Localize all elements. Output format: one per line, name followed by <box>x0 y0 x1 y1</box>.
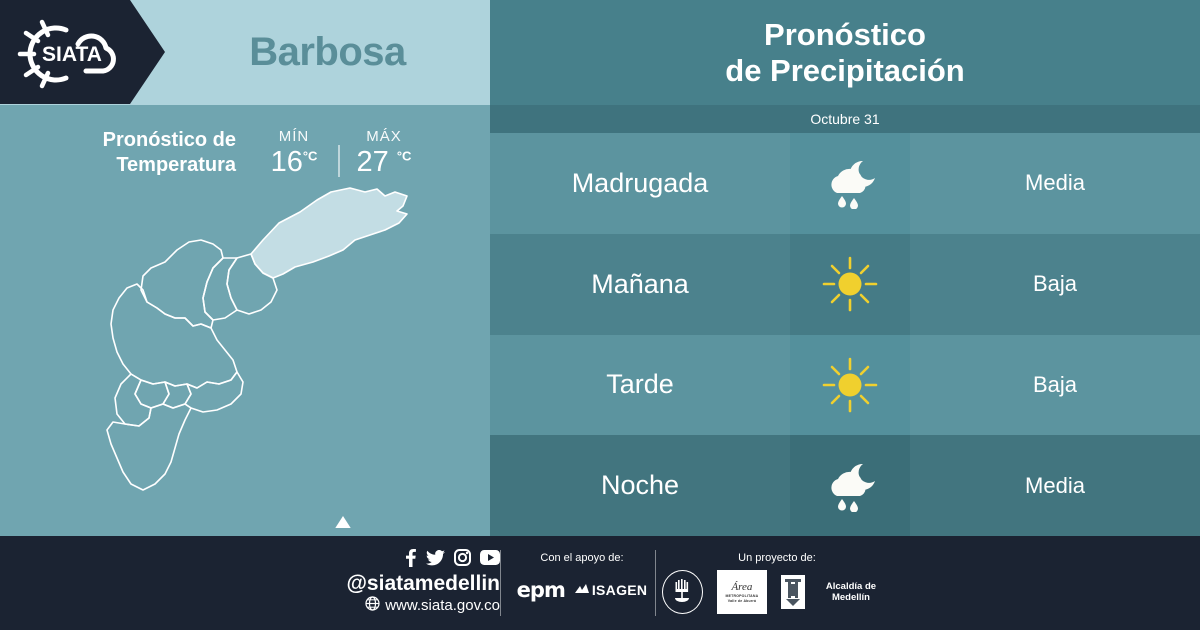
alcaldia-label: Alcaldía de Medellín <box>810 581 892 603</box>
footer-divider-1 <box>500 550 501 616</box>
temperature-title-line2: Temperatura <box>60 153 236 178</box>
forecast-row: Madrugada Media <box>490 133 1200 234</box>
support-logos: epm ISAGEN <box>512 578 652 602</box>
aburra-valley-map: N <box>55 178 445 528</box>
temperature-max-unit: °C <box>397 148 412 163</box>
temperature-min-label: MÍN <box>250 128 338 145</box>
social-block: @siatamedellin www.siata.gov.co <box>300 550 500 615</box>
alcaldia-de-medellin-logo: Alcaldía de Medellín <box>781 575 892 609</box>
medellin-crest-icon <box>781 575 805 609</box>
support-caption: Con el apoyo de: <box>512 552 652 564</box>
siata-logo: SIATA <box>14 14 134 94</box>
globe-icon <box>365 596 380 615</box>
temperature-title: Pronóstico de Temperatura <box>60 128 250 178</box>
map-region-barbosa <box>251 188 407 278</box>
amva-sub1: METROPOLITANA <box>726 594 759 598</box>
temperature-summary: Pronóstico de Temperatura MÍN 16°C MÁX 2… <box>60 122 460 184</box>
social-icons <box>300 550 500 570</box>
area-metropolitana-logo: Área METROPOLITANA Valle de Aburrá <box>717 570 767 614</box>
probability-label: Baja <box>910 234 1200 335</box>
north-arrow-icon <box>334 516 352 528</box>
amva-sub2: Valle de Aburrá <box>728 599 756 603</box>
temperature-max-label: MÁX <box>340 128 428 145</box>
facebook-icon[interactable] <box>404 549 417 572</box>
temperature-max-value: 27 °C <box>340 146 428 179</box>
sun-icon <box>790 335 910 436</box>
map-region-medellin <box>111 284 237 388</box>
forecast-row: Mañana <box>490 234 1200 335</box>
footer: @siatamedellin www.siata.gov.co Con el a… <box>0 536 1200 630</box>
city-title: Barbosa <box>165 0 490 105</box>
footer-divider-2 <box>655 550 656 616</box>
sun-icon <box>790 234 910 335</box>
period-label: Madrugada <box>490 133 790 234</box>
amva-name: Área <box>731 581 752 593</box>
temperature-title-line1: Pronóstico de <box>60 128 236 153</box>
website-url: www.siata.gov.co <box>385 597 500 614</box>
epm-logo: epm <box>517 578 565 602</box>
precipitation-header: Pronóstico de Precipitación <box>490 0 1200 105</box>
temperature-max: MÁX 27 °C <box>340 128 428 179</box>
probability-label: Media <box>910 435 1200 536</box>
isagen-logo: ISAGEN <box>575 582 647 598</box>
probability-label: Media <box>910 133 1200 234</box>
weather-forecast-poster: SIATA Barbosa Pronóstico de Temperatura … <box>0 0 1200 630</box>
period-label: Mañana <box>490 234 790 335</box>
instagram-icon[interactable] <box>454 549 471 571</box>
website-line[interactable]: www.siata.gov.co <box>300 596 500 615</box>
temperature-min-value: 16°C <box>250 146 338 179</box>
precipitation-panel: Pronóstico de Precipitación Octubre 31 M… <box>490 0 1200 536</box>
precipitation-rows: Madrugada Media Mañana <box>490 133 1200 536</box>
map-region-bello <box>141 240 223 328</box>
twitter-icon[interactable] <box>426 550 445 571</box>
probability-label: Baja <box>910 335 1200 436</box>
forecast-date: Octubre 31 <box>490 105 1200 133</box>
period-label: Tarde <box>490 335 790 436</box>
social-handle[interactable]: @siatamedellin <box>300 571 500 596</box>
map-region-envigado <box>185 372 243 412</box>
forecast-row: Noche Media <box>490 435 1200 536</box>
siata-logo-text: SIATA <box>42 43 102 66</box>
period-label: Noche <box>490 435 790 536</box>
isagen-logo-text: ISAGEN <box>592 582 647 598</box>
temperature-min-unit: °C <box>303 148 318 163</box>
precipitation-title-line1: Pronóstico <box>764 17 926 53</box>
temperature-min: MÍN 16°C <box>250 128 338 179</box>
youtube-icon[interactable] <box>480 550 500 570</box>
universidad-de-antioquia-seal <box>662 570 703 614</box>
map-region-copacabana <box>203 258 237 320</box>
moon-cloud-rain-icon <box>790 133 910 234</box>
forecast-row: Tarde <box>490 335 1200 436</box>
project-logos: Área METROPOLITANA Valle de Aburrá <box>662 570 892 614</box>
project-block: Un proyecto de: Ár <box>662 552 892 614</box>
precipitation-title-line2: de Precipitación <box>725 53 964 89</box>
project-caption: Un proyecto de: <box>662 552 892 564</box>
moon-cloud-rain-icon <box>790 435 910 536</box>
temperature-panel: SIATA Barbosa Pronóstico de Temperatura … <box>0 0 490 536</box>
map-region-sabaneta <box>163 382 191 408</box>
support-block: Con el apoyo de: epm ISAGEN <box>512 552 652 602</box>
